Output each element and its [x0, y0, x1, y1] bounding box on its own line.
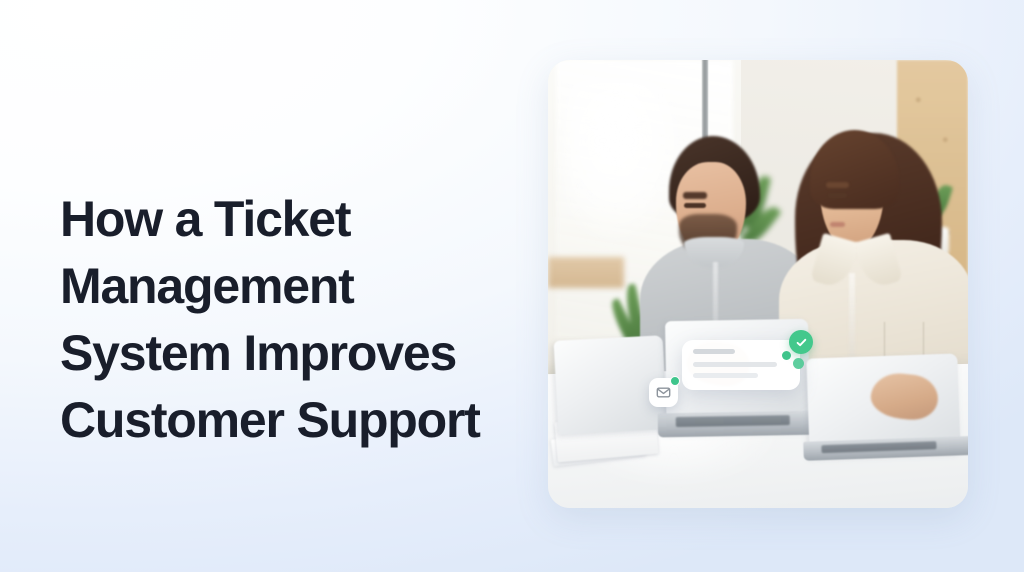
resolved-check-badge[interactable] — [789, 330, 813, 354]
skeleton-line-title — [693, 349, 735, 354]
envelope-icon — [656, 385, 671, 400]
ui-overlay — [548, 60, 968, 508]
unread-dot-icon — [670, 376, 680, 386]
headline-line-1: How a Ticket — [60, 186, 540, 253]
hero-banner: How a Ticket Management System Improves … — [0, 0, 1024, 572]
page-title: How a Ticket Management System Improves … — [60, 186, 540, 454]
ticket-notification-card[interactable] — [682, 340, 800, 390]
check-icon — [795, 336, 808, 349]
headline-line-3: System Improves — [60, 320, 540, 387]
status-dot-icon — [793, 358, 804, 369]
skeleton-line-body-2 — [693, 373, 758, 378]
headline-line-2: Management — [60, 253, 540, 320]
card-status-dot-icon — [782, 351, 791, 360]
new-message-badge[interactable] — [649, 378, 678, 407]
skeleton-line-body-1 — [693, 362, 777, 367]
office-photo-scene — [548, 60, 968, 508]
headline-line-4: Customer Support — [60, 387, 540, 454]
hero-image — [548, 60, 968, 508]
